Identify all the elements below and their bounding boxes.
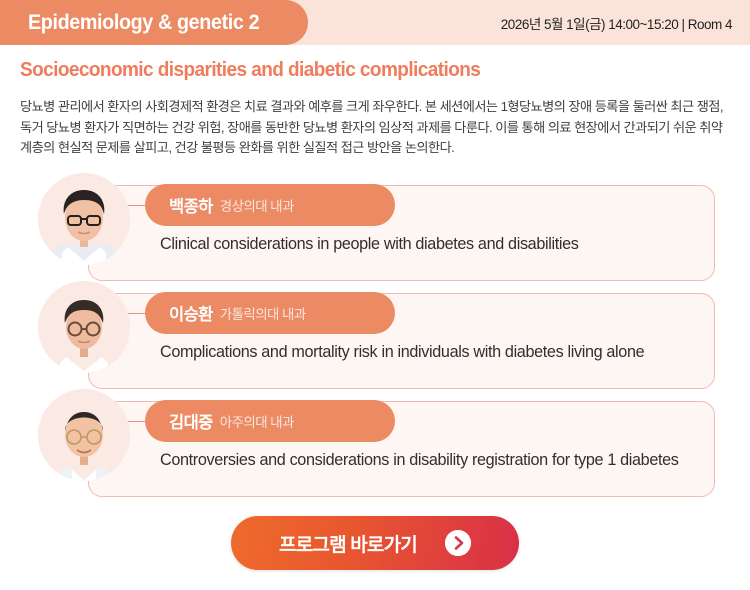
speaker-name-banner: 백종하 경상의대 내과 xyxy=(145,184,395,226)
speaker-name: 김대중 xyxy=(169,409,213,433)
speaker-name-banner: 이승환 가톨릭의대 내과 xyxy=(145,292,395,334)
speaker-name: 이승환 xyxy=(169,301,213,325)
session-description: 당뇨병 관리에서 환자의 사회경제적 환경은 치료 결과와 예후를 크게 좌우한… xyxy=(20,97,730,159)
session-header: Epidemiology & genetic 2 2026년 5월 1일(금) … xyxy=(0,0,750,45)
talk-title: Controversies and considerations in disa… xyxy=(160,449,690,471)
speaker-photo-3-icon xyxy=(38,389,130,481)
session-tag-label: Epidemiology & genetic 2 xyxy=(28,11,259,35)
speaker-affiliation: 경상의대 내과 xyxy=(220,195,294,215)
speaker-affiliation: 가톨릭의대 내과 xyxy=(220,303,306,323)
list-item: 백종하 경상의대 내과 Clinical considerations in p… xyxy=(0,173,750,281)
program-link-button[interactable]: 프로그램 바로가기 xyxy=(231,516,519,570)
chevron-right-circle-icon xyxy=(445,530,471,556)
session-datetime-room: 2026년 5월 1일(금) 14:00~15:20 | Room 4 xyxy=(501,13,750,33)
speaker-affiliation: 아주의대 내과 xyxy=(220,411,294,431)
talk-title: Clinical considerations in people with d… xyxy=(160,233,690,255)
speaker-photo-2-icon xyxy=(38,281,130,373)
list-item: 이승환 가톨릭의대 내과 Complications and mortality… xyxy=(0,281,750,389)
cta-container: 프로그램 바로가기 xyxy=(0,516,750,570)
talk-title: Complications and mortality risk in indi… xyxy=(160,341,690,363)
speaker-name-banner: 김대중 아주의대 내과 xyxy=(145,400,395,442)
session-subtitle: Socioeconomic disparities and diabetic c… xyxy=(20,59,714,82)
speaker-list: 백종하 경상의대 내과 Clinical considerations in p… xyxy=(0,173,750,497)
avatar xyxy=(38,173,130,265)
avatar xyxy=(38,281,130,373)
avatar xyxy=(38,389,130,481)
speaker-name: 백종하 xyxy=(169,193,213,217)
speaker-photo-1-icon xyxy=(38,173,130,265)
list-item: 김대중 아주의대 내과 Controversies and considerat… xyxy=(0,389,750,497)
program-link-label: 프로그램 바로가기 xyxy=(279,530,417,557)
session-tag: Epidemiology & genetic 2 xyxy=(0,0,308,45)
